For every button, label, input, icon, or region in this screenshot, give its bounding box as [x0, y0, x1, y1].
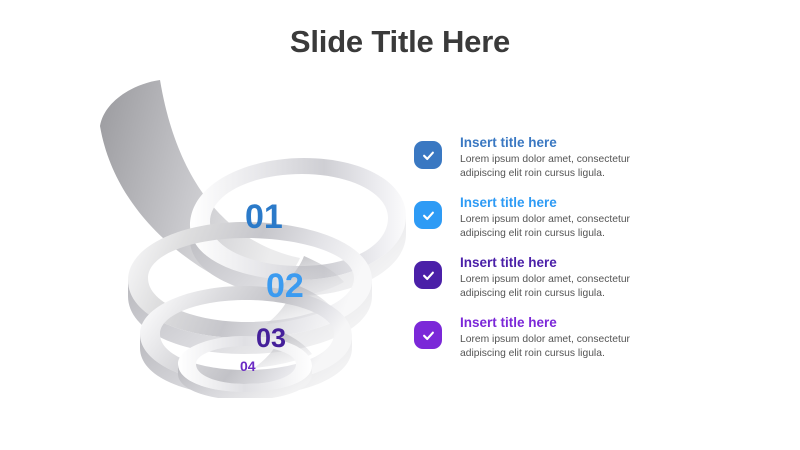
list-item[interactable]: Insert title here Lorem ipsum dolor amet…	[414, 192, 774, 252]
list-item-text: Insert title here Lorem ipsum dolor amet…	[460, 192, 640, 241]
list-item[interactable]: Insert title here Lorem ipsum dolor amet…	[414, 252, 774, 312]
check-badge[interactable]	[414, 261, 442, 289]
list-item-title: Insert title here	[460, 195, 640, 212]
spiral-ribbon-diagram: 01 02 03 04	[86, 58, 416, 398]
list-item-body: Lorem ipsum dolor amet, consectetur adip…	[460, 153, 640, 181]
check-icon	[421, 268, 436, 283]
list-item-body: Lorem ipsum dolor amet, consectetur adip…	[460, 273, 640, 301]
slide-canvas: Slide Title Here	[0, 0, 800, 450]
page-title: Slide Title Here	[0, 24, 800, 60]
list-item-text: Insert title here Lorem ipsum dolor amet…	[460, 252, 640, 301]
spiral-number-03: 03	[256, 325, 286, 352]
spiral-number-04: 04	[240, 359, 256, 373]
list-item-title: Insert title here	[460, 135, 640, 152]
list-item-text: Insert title here Lorem ipsum dolor amet…	[460, 132, 640, 181]
list-item-title: Insert title here	[460, 315, 640, 332]
list-item[interactable]: Insert title here Lorem ipsum dolor amet…	[414, 312, 774, 372]
check-badge[interactable]	[414, 321, 442, 349]
feature-list: Insert title here Lorem ipsum dolor amet…	[414, 132, 774, 372]
list-item-title: Insert title here	[460, 255, 640, 272]
list-item-body: Lorem ipsum dolor amet, consectetur adip…	[460, 333, 640, 361]
check-badge[interactable]	[414, 141, 442, 169]
check-badge[interactable]	[414, 201, 442, 229]
list-item[interactable]: Insert title here Lorem ipsum dolor amet…	[414, 132, 774, 192]
check-icon	[421, 208, 436, 223]
spiral-number-01: 01	[245, 200, 283, 234]
spiral-number-02: 02	[266, 269, 304, 303]
check-icon	[421, 148, 436, 163]
list-item-text: Insert title here Lorem ipsum dolor amet…	[460, 312, 640, 361]
list-item-body: Lorem ipsum dolor amet, consectetur adip…	[460, 213, 640, 241]
check-icon	[421, 328, 436, 343]
